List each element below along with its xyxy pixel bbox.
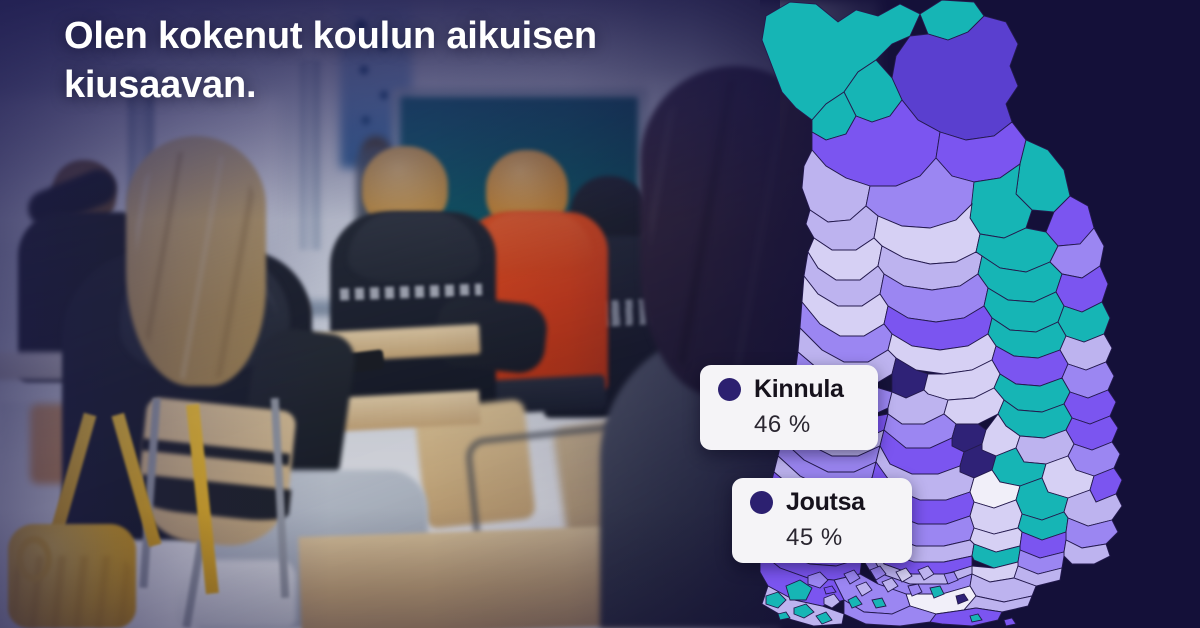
callout-joutsa-name: Joutsa bbox=[786, 490, 865, 515]
callout-kinnula-header: Kinnula bbox=[718, 377, 858, 402]
infographic-canvas: Olen kokenut koulun aikuisen kiusaavan. bbox=[0, 0, 1200, 628]
callout-kinnula-value: 46 % bbox=[718, 413, 858, 437]
callout-kinnula[interactable]: Kinnula 46 % bbox=[700, 365, 878, 450]
callout-kinnula-name: Kinnula bbox=[754, 377, 844, 402]
callout-joutsa-value: 45 % bbox=[750, 526, 892, 550]
callout-joutsa-header: Joutsa bbox=[750, 490, 892, 515]
marker-dot-icon bbox=[750, 491, 773, 514]
marker-dot-icon bbox=[718, 378, 741, 401]
mu-island bbox=[1004, 618, 1016, 626]
callout-joutsa[interactable]: Joutsa 45 % bbox=[732, 478, 912, 563]
page-title: Olen kokenut koulun aikuisen kiusaavan. bbox=[64, 12, 744, 109]
mu-region bbox=[1016, 140, 1070, 212]
